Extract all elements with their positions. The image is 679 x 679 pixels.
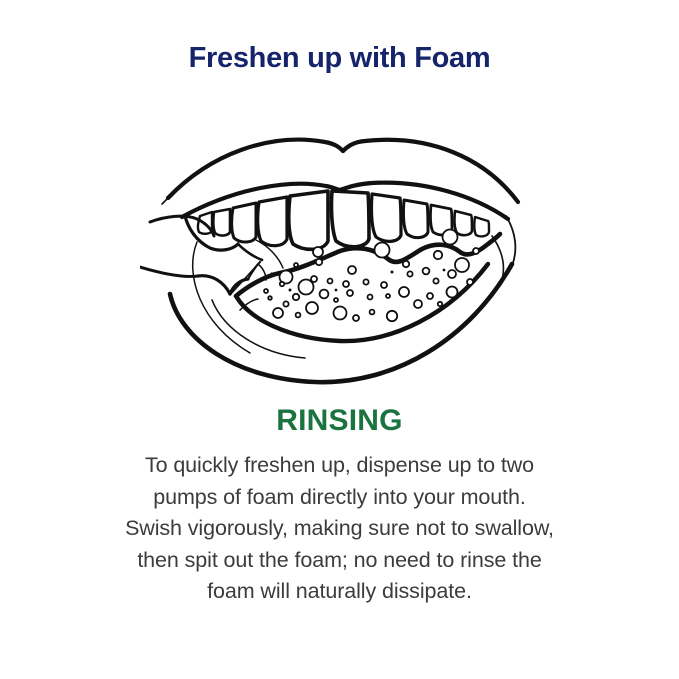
open-mouth-foam-illustration	[140, 124, 540, 396]
section-heading: RINSING	[0, 403, 679, 439]
body-line: To quickly freshen up, dispense up to tw…	[0, 450, 679, 482]
body-line: pumps of foam directly into your mouth.	[0, 482, 679, 514]
illustration-container	[0, 120, 679, 400]
page-title: Freshen up with Foam	[0, 38, 679, 78]
inner-cheek-line	[492, 216, 515, 280]
body-line: then spit out the foam; no need to rinse…	[0, 545, 679, 577]
body-line: foam will naturally dissipate.	[0, 576, 679, 608]
infographic-page: Freshen up with Foam	[0, 0, 679, 679]
body-copy: To quickly freshen up, dispense up to tw…	[0, 450, 679, 608]
tongue	[236, 234, 500, 341]
body-line: Swish vigorously, making sure not to swa…	[0, 513, 679, 545]
foam-specks	[270, 269, 445, 292]
